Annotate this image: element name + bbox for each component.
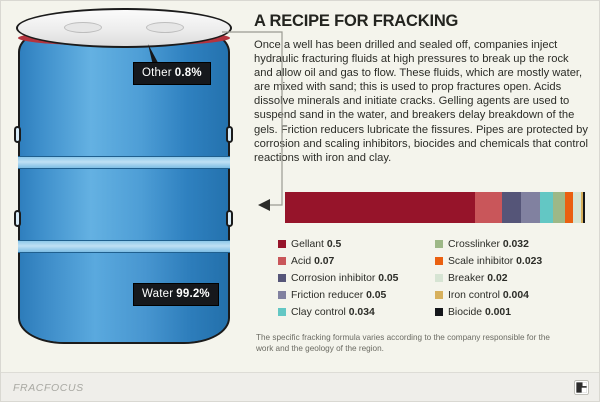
callout-water-value: 99.2% (176, 288, 210, 300)
legend-swatch-icon (278, 291, 286, 299)
legend-item-value: 0.5 (327, 239, 341, 250)
legend-item-value: 0.05 (366, 290, 386, 301)
barrel-bung-left (64, 22, 102, 33)
legend-item-value: 0.023 (516, 256, 542, 267)
legend-swatch-icon (278, 274, 286, 282)
legend-swatch-icon (278, 240, 286, 248)
bar-segment-corrosion-inhibitor (502, 192, 521, 223)
legend-item-label: Gellant 0.5 (291, 239, 341, 250)
bar-segment-crosslinker (553, 192, 565, 223)
legend-item-label: Biocide 0.001 (448, 307, 511, 318)
bar-segment-acid (475, 192, 502, 223)
legend-swatch-icon (278, 308, 286, 316)
legend-column-left: Gellant 0.5Acid 0.07Corrosion inhibitor … (278, 236, 435, 321)
legend-column-right: Crosslinker 0.032Scale inhibitor 0.023Br… (435, 236, 592, 321)
callout-other-value: 0.8% (175, 67, 202, 79)
legend-swatch-icon (435, 240, 443, 248)
bar-segment-friction-reducer (521, 192, 540, 223)
legend-item-label: Scale inhibitor 0.023 (448, 256, 542, 267)
callout-water-label: Water (142, 288, 173, 300)
chart-legend: Gellant 0.5Acid 0.07Corrosion inhibitor … (278, 236, 592, 321)
legend-item-label: Breaker 0.02 (448, 273, 508, 284)
legend-item-value: 0.004 (503, 290, 529, 301)
article-content: A RECIPE FOR FRACKING Once a well has be… (254, 12, 590, 165)
legend-item-scale-inhibitor: Scale inhibitor 0.023 (435, 253, 592, 269)
intro-paragraph: Once a well has been drilled and sealed … (254, 38, 590, 165)
legend-item-friction-reducer: Friction reducer 0.05 (278, 287, 435, 303)
bar-segment-breaker (573, 192, 581, 223)
legend-swatch-icon (278, 257, 286, 265)
barrel-rib-cap-right-lower (226, 210, 233, 227)
callout-other: Other0.8% (133, 62, 211, 85)
infographic-page: Other0.8% Water99.2% A RECIPE FOR FRACKI… (0, 0, 600, 402)
legend-item-clay-control: Clay control 0.034 (278, 304, 435, 320)
expand-icon[interactable] (574, 380, 589, 395)
callout-water: Water99.2% (133, 283, 219, 306)
barrel-bung-right (146, 22, 184, 33)
legend-item-gellant: Gellant 0.5 (278, 236, 435, 252)
barrel-illustration: Other0.8% Water99.2% (0, 0, 248, 370)
bar-segment-biocide (583, 192, 585, 223)
stacked-bar-chart (285, 192, 585, 223)
source-bar: FRACFOCUS (0, 372, 600, 402)
legend-item-iron-control: Iron control 0.004 (435, 287, 592, 303)
legend-item-corrosion-inhibitor: Corrosion inhibitor 0.05 (278, 270, 435, 286)
callout-other-label: Other (142, 67, 172, 79)
legend-item-value: 0.034 (349, 307, 375, 318)
bar-segment-scale-inhibitor (565, 192, 574, 223)
legend-item-label: Crosslinker 0.032 (448, 239, 529, 250)
legend-item-label: Corrosion inhibitor 0.05 (291, 273, 398, 284)
legend-item-label: Clay control 0.034 (291, 307, 375, 318)
legend-item-label: Friction reducer 0.05 (291, 290, 386, 301)
legend-item-label: Iron control 0.004 (448, 290, 529, 301)
barrel-rib-cap-left-lower (14, 210, 21, 227)
chart-footnote: The specific fracking formula varies acc… (256, 333, 556, 354)
legend-item-crosslinker: Crosslinker 0.032 (435, 236, 592, 252)
bar-segment-gellant (285, 192, 475, 223)
bar-segment-clay-control (540, 192, 553, 223)
legend-item-biocide: Biocide 0.001 (435, 304, 592, 320)
barrel-lid (16, 8, 232, 48)
connector-arrow (220, 30, 290, 212)
legend-item-value: 0.02 (487, 273, 507, 284)
legend-item-acid: Acid 0.07 (278, 253, 435, 269)
page-title: A RECIPE FOR FRACKING (254, 12, 590, 31)
legend-swatch-icon (435, 257, 443, 265)
legend-swatch-icon (435, 274, 443, 282)
source-label: FRACFOCUS (13, 382, 84, 394)
barrel-rib-cap-left-upper (14, 126, 21, 143)
legend-item-breaker: Breaker 0.02 (435, 270, 592, 286)
legend-item-label: Acid 0.07 (291, 256, 334, 267)
legend-item-value: 0.05 (378, 273, 398, 284)
legend-swatch-icon (435, 291, 443, 299)
barrel-rib-upper (18, 156, 230, 169)
legend-item-value: 0.07 (314, 256, 334, 267)
legend-item-value: 0.001 (485, 307, 511, 318)
legend-item-value: 0.032 (503, 239, 529, 250)
barrel-rib-lower (18, 240, 230, 253)
legend-swatch-icon (435, 308, 443, 316)
